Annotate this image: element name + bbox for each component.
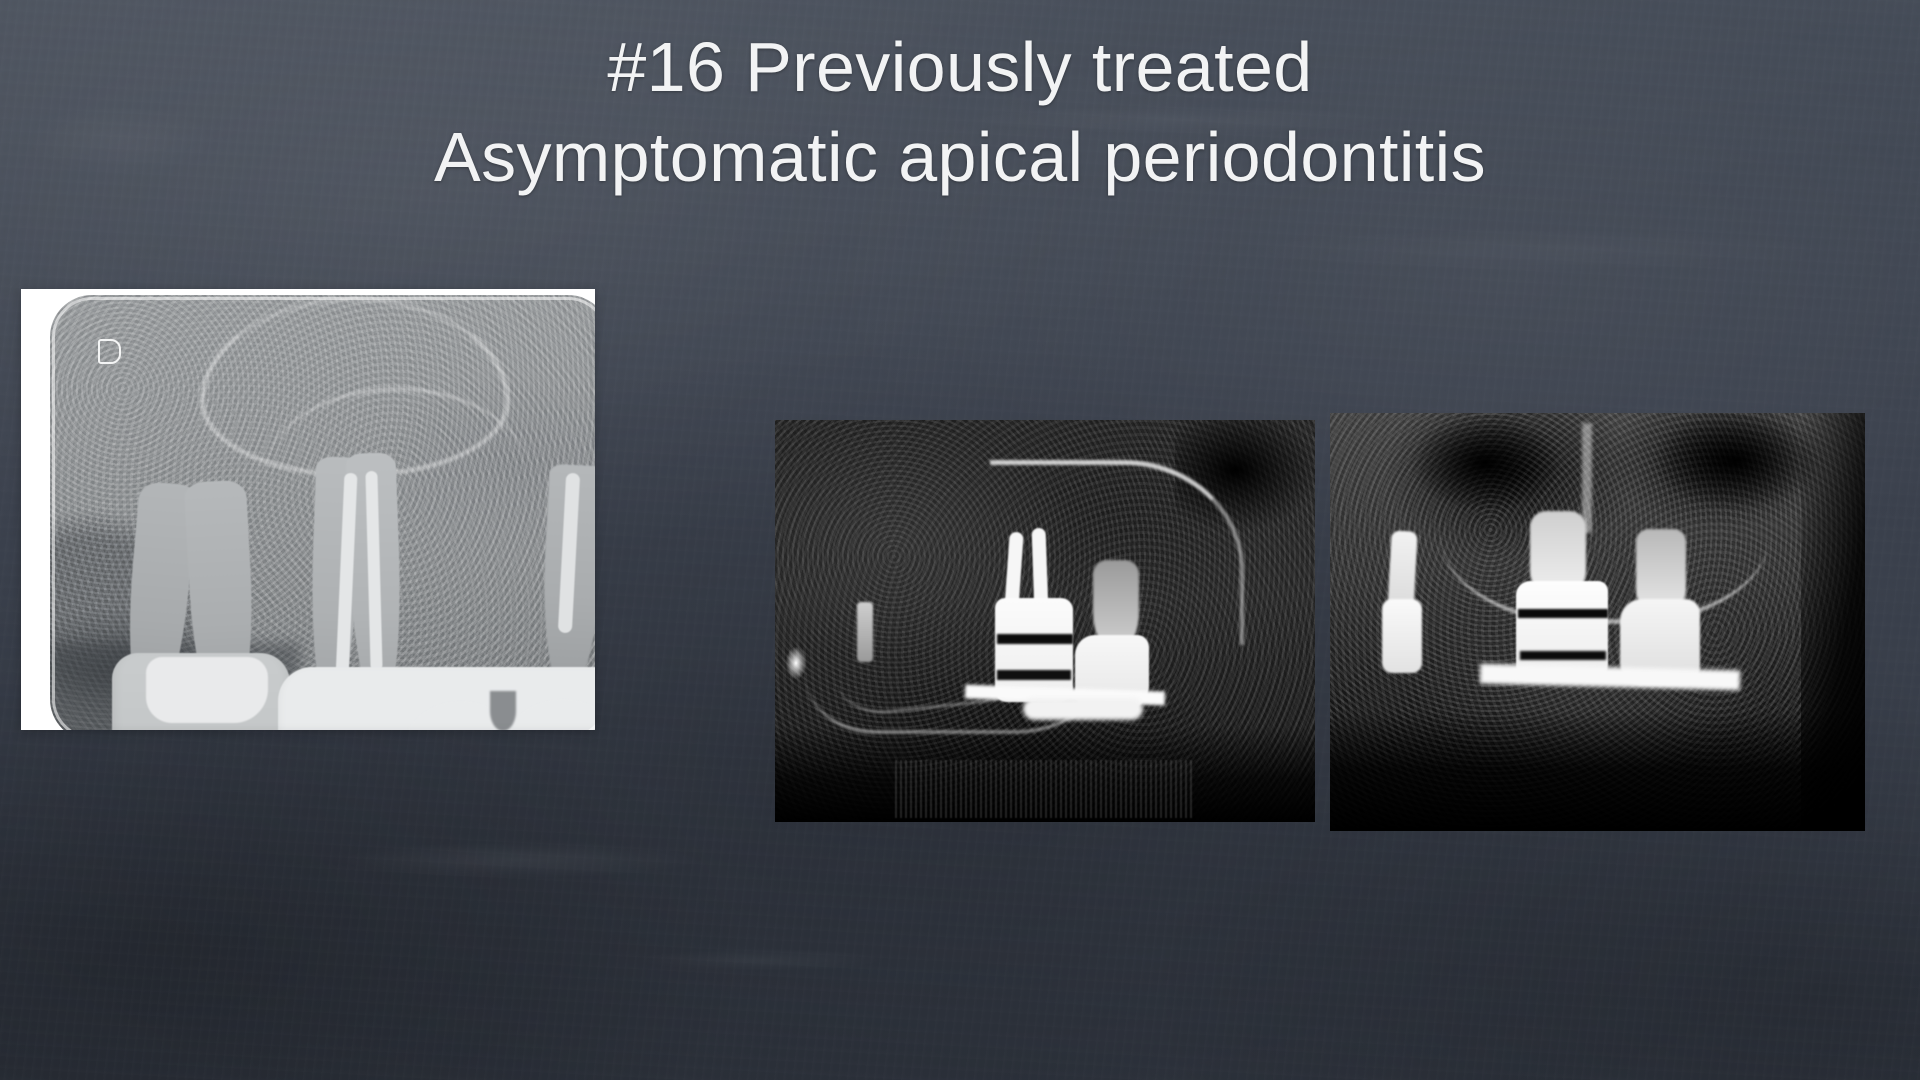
dense-marker-object — [783, 642, 809, 684]
periapical-radiograph-image — [50, 295, 595, 730]
tooth-17-restoration — [146, 657, 268, 723]
slide-title: #16 Previously treated Asymptomatic apic… — [0, 8, 1920, 202]
alveolar-crest-shadow — [50, 725, 595, 730]
sensor-orientation-dimple-icon — [98, 339, 121, 364]
sagittal-metal-streak-artifact-2 — [1023, 698, 1143, 720]
sagittal-crown-dark-band-2 — [997, 670, 1071, 680]
title-line-tooth-diagnosis: #16 Previously treated — [0, 22, 1920, 112]
cbct-coronal-slice[interactable] — [1330, 413, 1865, 831]
coronal-lower-dark-band — [1330, 711, 1865, 831]
adjacent-radiopaque-object — [857, 602, 873, 662]
coronal-dark-band-2 — [1520, 651, 1606, 660]
cbct-sagittal-slice[interactable] — [775, 420, 1315, 822]
sagittal-floor-texture — [895, 760, 1195, 818]
presentation-slide: #16 Previously treated Asymptomatic apic… — [0, 0, 1920, 1080]
coronal-left-restoration — [1382, 599, 1422, 673]
coronal-dark-band-1 — [1518, 609, 1608, 618]
periapical-radiograph-mount[interactable] — [21, 289, 595, 730]
coronal-slice-edge-wedge — [1801, 413, 1865, 831]
title-line-periapical-diagnosis: Asymptomatic apical periodontitis — [0, 112, 1920, 202]
sagittal-crown-dark-band-1 — [997, 634, 1073, 644]
